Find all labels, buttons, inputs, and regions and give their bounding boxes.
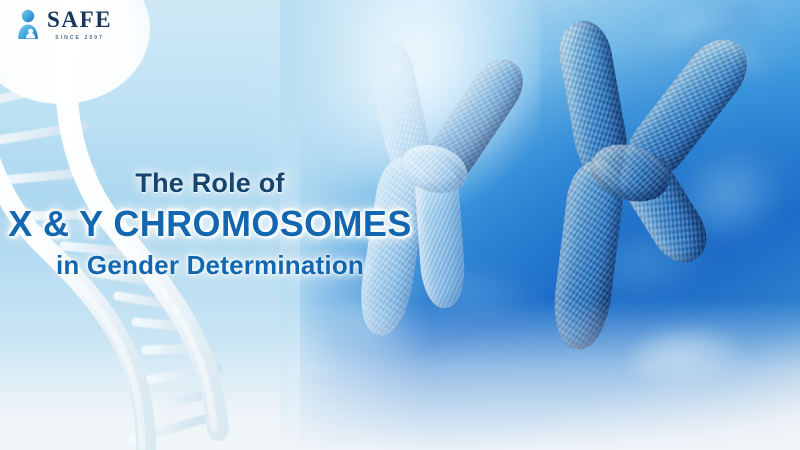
logo-wordmark-group: SAFE SINCE 2007	[47, 8, 112, 41]
headline-block: The Role of X & Y CHROMOSOMES in Gender …	[0, 168, 420, 282]
logo-tagline: SINCE 2007	[55, 35, 104, 41]
headline-line-3: in Gender Determination	[0, 250, 420, 281]
logo-wordmark: SAFE	[47, 8, 112, 31]
headline-line-1: The Role of	[0, 168, 420, 200]
headline-line-2: X & Y CHROMOSOMES	[0, 203, 420, 245]
photo-bottom-fog	[280, 300, 800, 450]
banner-root: SAFE SINCE 2007 The Role of X & Y CHROMO…	[0, 0, 800, 450]
parent-and-child-icon	[16, 9, 42, 41]
brand-logo[interactable]: SAFE SINCE 2007	[16, 8, 112, 41]
